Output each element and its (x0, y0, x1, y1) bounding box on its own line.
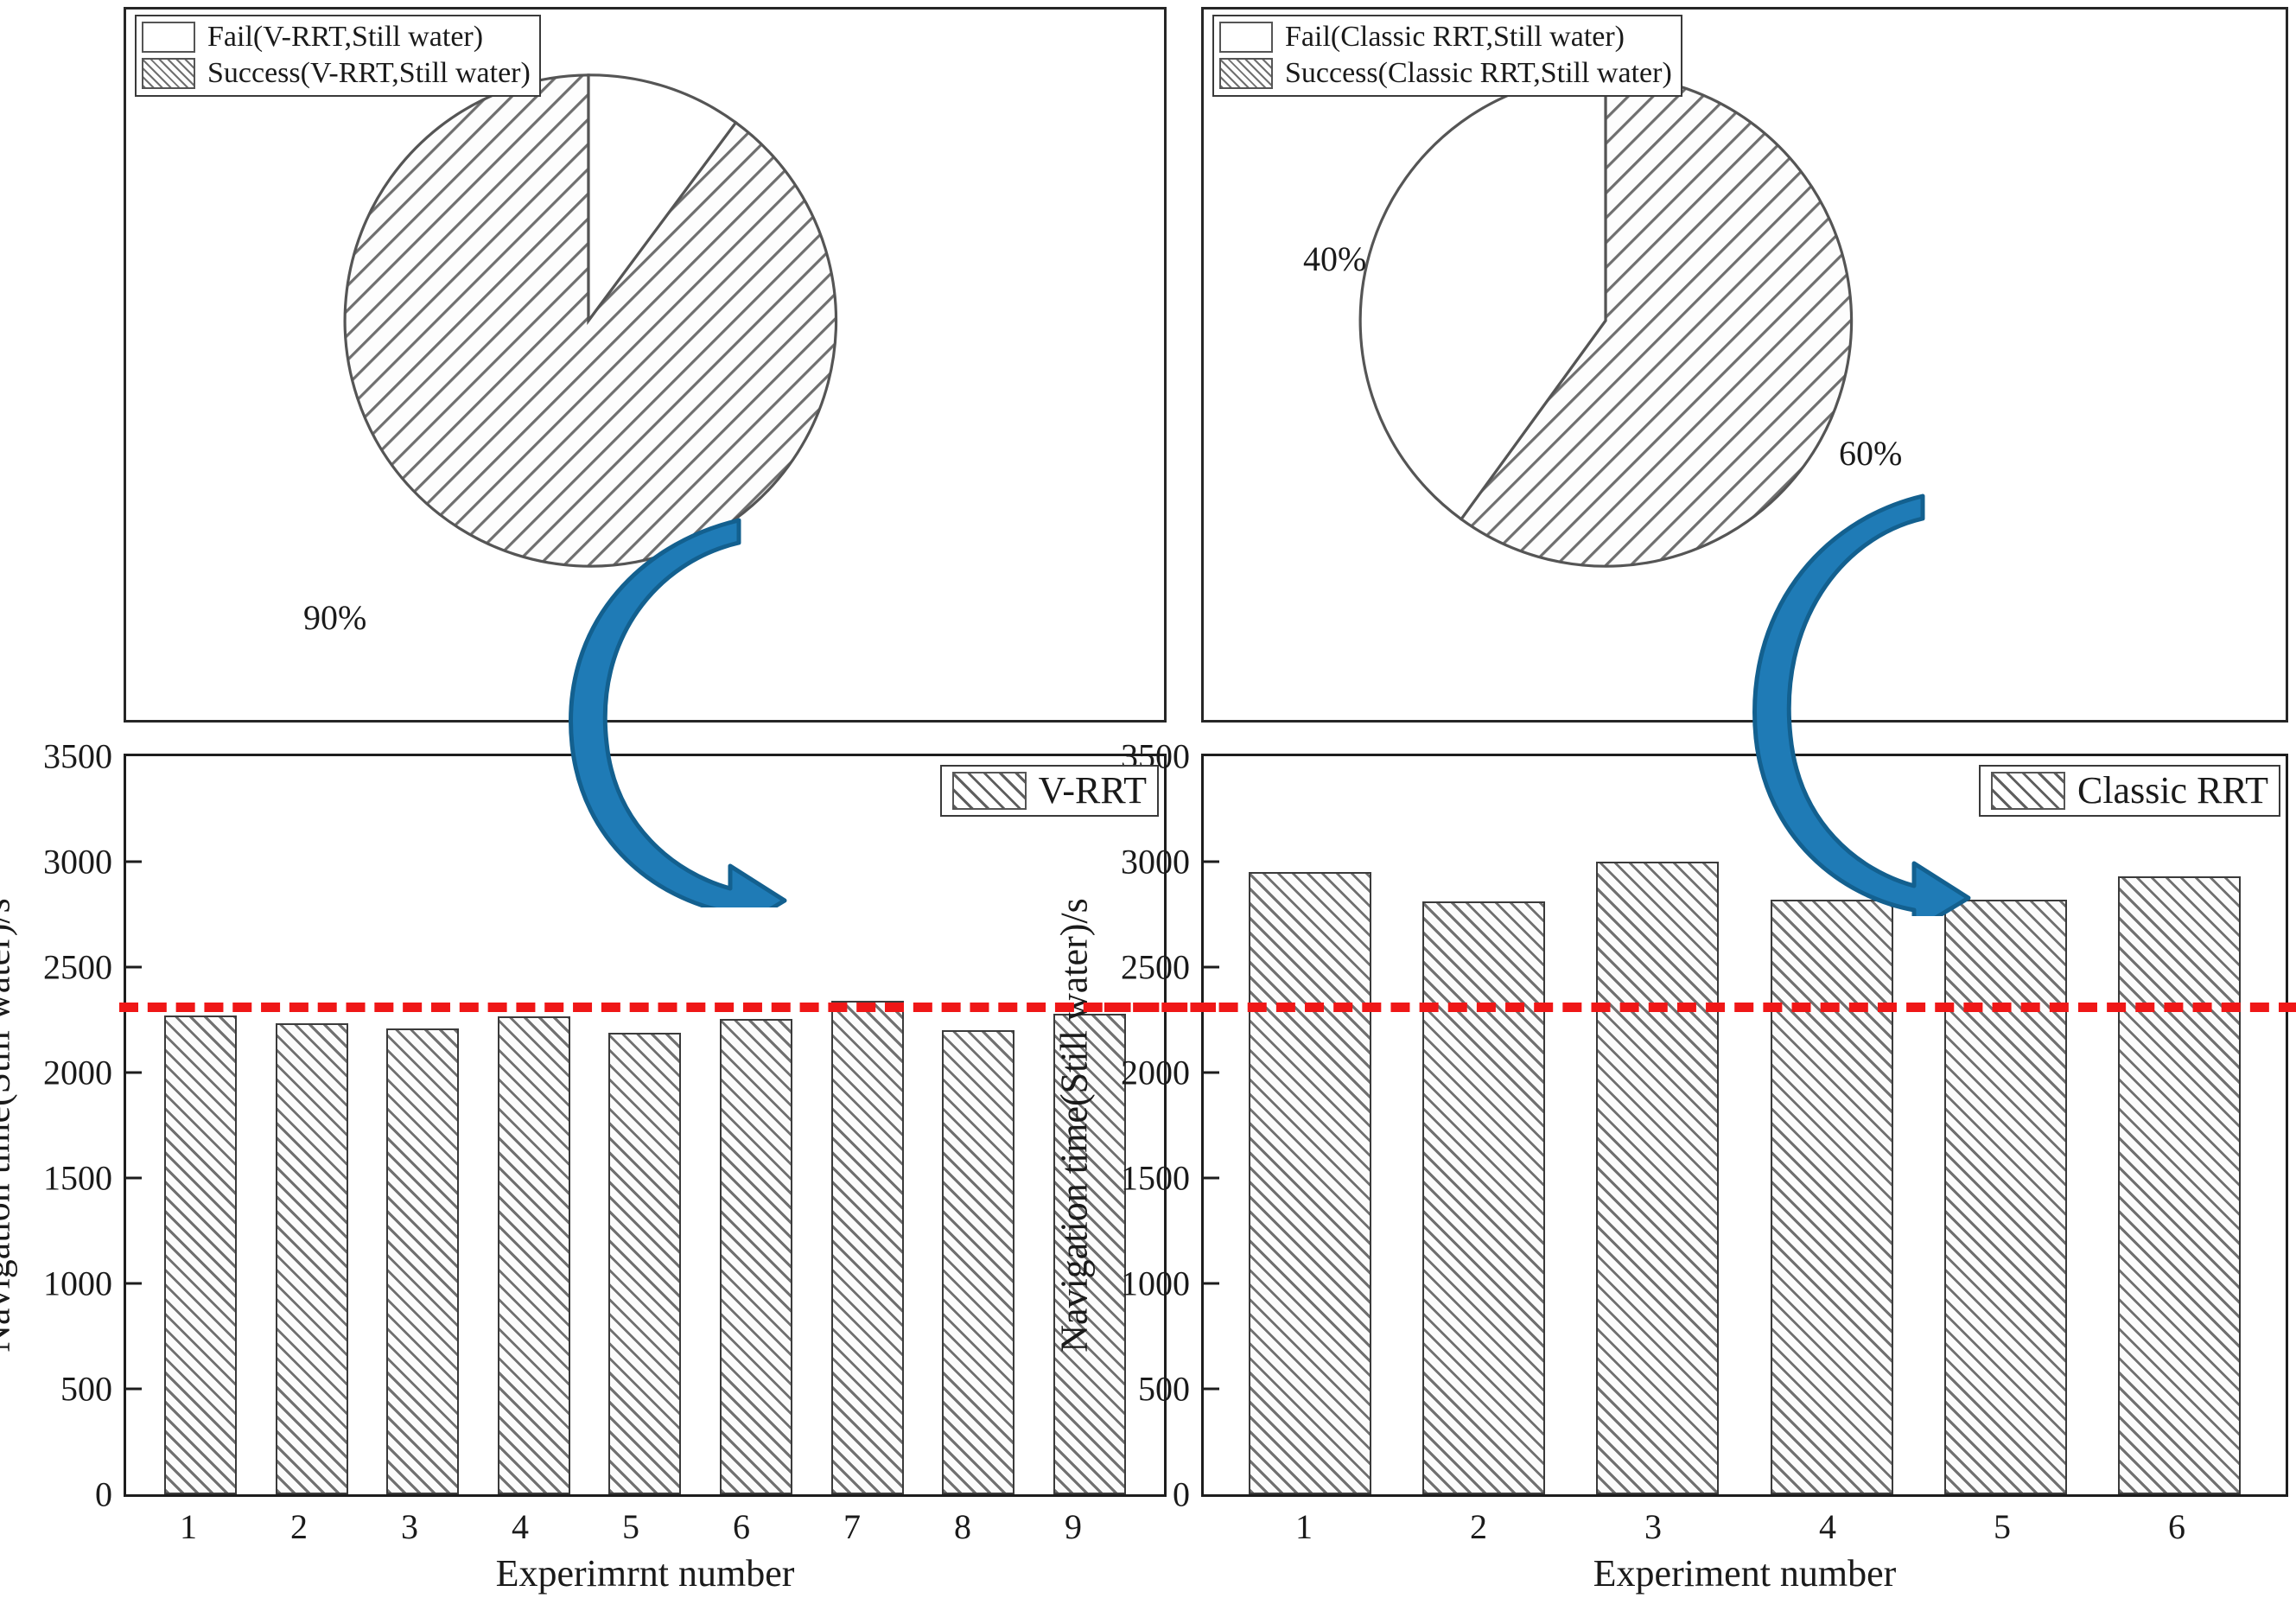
x-tick-9: 9 (1065, 1494, 1082, 1547)
legend-label-v-rrt: V-RRT (1039, 772, 1147, 810)
bar-legend-v-rrt: V-RRT (940, 765, 1159, 817)
bar-legend-classic-rrt: Classic RRT (1979, 765, 2280, 817)
pie-panel-v-rrt: Fail(V-RRT,Still water) Success(V-RRT,St… (124, 7, 1167, 723)
x-tick-2: 2 (290, 1494, 308, 1547)
y-tick-1000: 1000 (43, 1264, 126, 1304)
y-tick-0: 0 (95, 1474, 126, 1515)
bar-chart-classic-rrt: 3500 3000 2500 2000 1500 1000 500 0 Clas… (1201, 754, 2288, 1497)
pie-legend-classic-rrt: Fail(Classic RRT,Still water) Success(Cl… (1212, 15, 1682, 97)
y-tick-2000: 2000 (43, 1052, 126, 1092)
x-tick-4: 4 (1819, 1494, 1836, 1547)
y-tick-1500: 1500 (43, 1158, 126, 1199)
bar-4 (498, 1016, 570, 1494)
y-tick-500: 500 (1138, 1368, 1204, 1409)
x-tick-5: 5 (1994, 1494, 2011, 1547)
y-tick-0: 0 (1173, 1474, 1204, 1515)
x-tick-8: 8 (954, 1494, 971, 1547)
legend-item-success: Success(Classic RRT,Still water) (1219, 55, 1672, 92)
bar-8 (942, 1030, 1014, 1494)
legend-swatch-success-icon (142, 58, 195, 89)
pie-legend-v-rrt: Fail(V-RRT,Still water) Success(V-RRT,St… (135, 15, 541, 97)
legend-swatch-v-rrt-icon (952, 772, 1027, 810)
y-tick-1000: 1000 (1121, 1264, 1204, 1304)
y-tick-500: 500 (60, 1368, 126, 1409)
pie-label-success-pct: 90% (303, 597, 366, 638)
pie-label-fail-pct: 40% (1303, 239, 1366, 279)
x-tick-1: 1 (1295, 1494, 1313, 1547)
bar-6 (2118, 876, 2241, 1494)
legend-label-success: Success(Classic RRT,Still water) (1285, 59, 1672, 88)
y-tick-2500: 2500 (43, 946, 126, 987)
x-tick-6: 6 (2168, 1494, 2185, 1547)
y-tick-2000: 2000 (1121, 1052, 1204, 1092)
y-tick-3000: 3000 (43, 842, 126, 882)
legend-label-success: Success(V-RRT,Still water) (207, 59, 531, 88)
bar-3 (386, 1028, 459, 1494)
y-tick-3500: 3500 (43, 736, 126, 777)
x-tick-5: 5 (622, 1494, 639, 1547)
x-tick-3: 3 (1644, 1494, 1662, 1547)
y-tick-1500: 1500 (1121, 1158, 1204, 1199)
pie-label-success-pct: 60% (1839, 433, 1902, 474)
y-tick-2500: 2500 (1121, 946, 1204, 987)
bar-series-v-rrt (126, 756, 1164, 1494)
bar-7 (831, 1001, 904, 1494)
legend-item-fail: Fail(V-RRT,Still water) (142, 19, 531, 55)
bar-5 (608, 1033, 681, 1494)
pie-svg (338, 70, 839, 571)
legend-item-fail: Fail(Classic RRT,Still water) (1219, 19, 1672, 55)
y-axis-title: Navigation time(Still water)/s (1053, 898, 1097, 1352)
legend-item-success: Success(V-RRT,Still water) (142, 55, 531, 92)
bar-6 (720, 1019, 792, 1494)
legend-swatch-fail-icon (142, 22, 195, 53)
x-tick-4: 4 (512, 1494, 529, 1547)
legend-swatch-success-icon (1219, 58, 1273, 89)
legend-swatch-classic-rrt-icon (1991, 772, 2065, 810)
bar-2 (1422, 901, 1545, 1494)
x-tick-1: 1 (180, 1494, 197, 1547)
pie-chart-classic-rrt (1355, 70, 1856, 571)
bar-series-classic-rrt (1204, 756, 2286, 1494)
pie-panel-classic-rrt: Fail(Classic RRT,Still water) Success(Cl… (1201, 7, 2288, 723)
y-axis-title: Navigation time(Still water)/s (0, 898, 19, 1352)
x-tick-7: 7 (843, 1494, 861, 1547)
bar-5 (1944, 900, 2067, 1494)
bar-3 (1596, 862, 1719, 1494)
y-tick-3000: 3000 (1121, 842, 1204, 882)
bar-2 (276, 1023, 348, 1494)
pie-svg (1355, 70, 1856, 571)
legend-label-fail: Fail(Classic RRT,Still water) (1285, 22, 1625, 52)
x-tick-6: 6 (733, 1494, 750, 1547)
x-tick-3: 3 (401, 1494, 418, 1547)
plot-area: 3500 3000 2500 2000 1500 1000 500 0 Clas… (1201, 754, 2288, 1497)
threshold-line (119, 1003, 1216, 1012)
legend-label-classic-rrt: Classic RRT (2077, 772, 2268, 810)
bar-chart-v-rrt: 3500 3000 2500 2000 1500 1000 500 0 V-RR… (124, 754, 1167, 1497)
legend-label-fail: Fail(V-RRT,Still water) (207, 22, 483, 52)
pie-chart-v-rrt (338, 70, 839, 571)
plot-area: 3500 3000 2500 2000 1500 1000 500 0 V-RR… (124, 754, 1167, 1497)
bar-4 (1771, 900, 1893, 1494)
x-axis-title: Experimrnt number (496, 1551, 795, 1595)
threshold-line (1104, 1003, 2296, 1012)
x-tick-2: 2 (1470, 1494, 1487, 1547)
x-axis-title: Experiment number (1593, 1551, 1897, 1595)
bar-1 (164, 1015, 237, 1494)
legend-swatch-fail-icon (1219, 22, 1273, 53)
bar-1 (1249, 872, 1371, 1494)
